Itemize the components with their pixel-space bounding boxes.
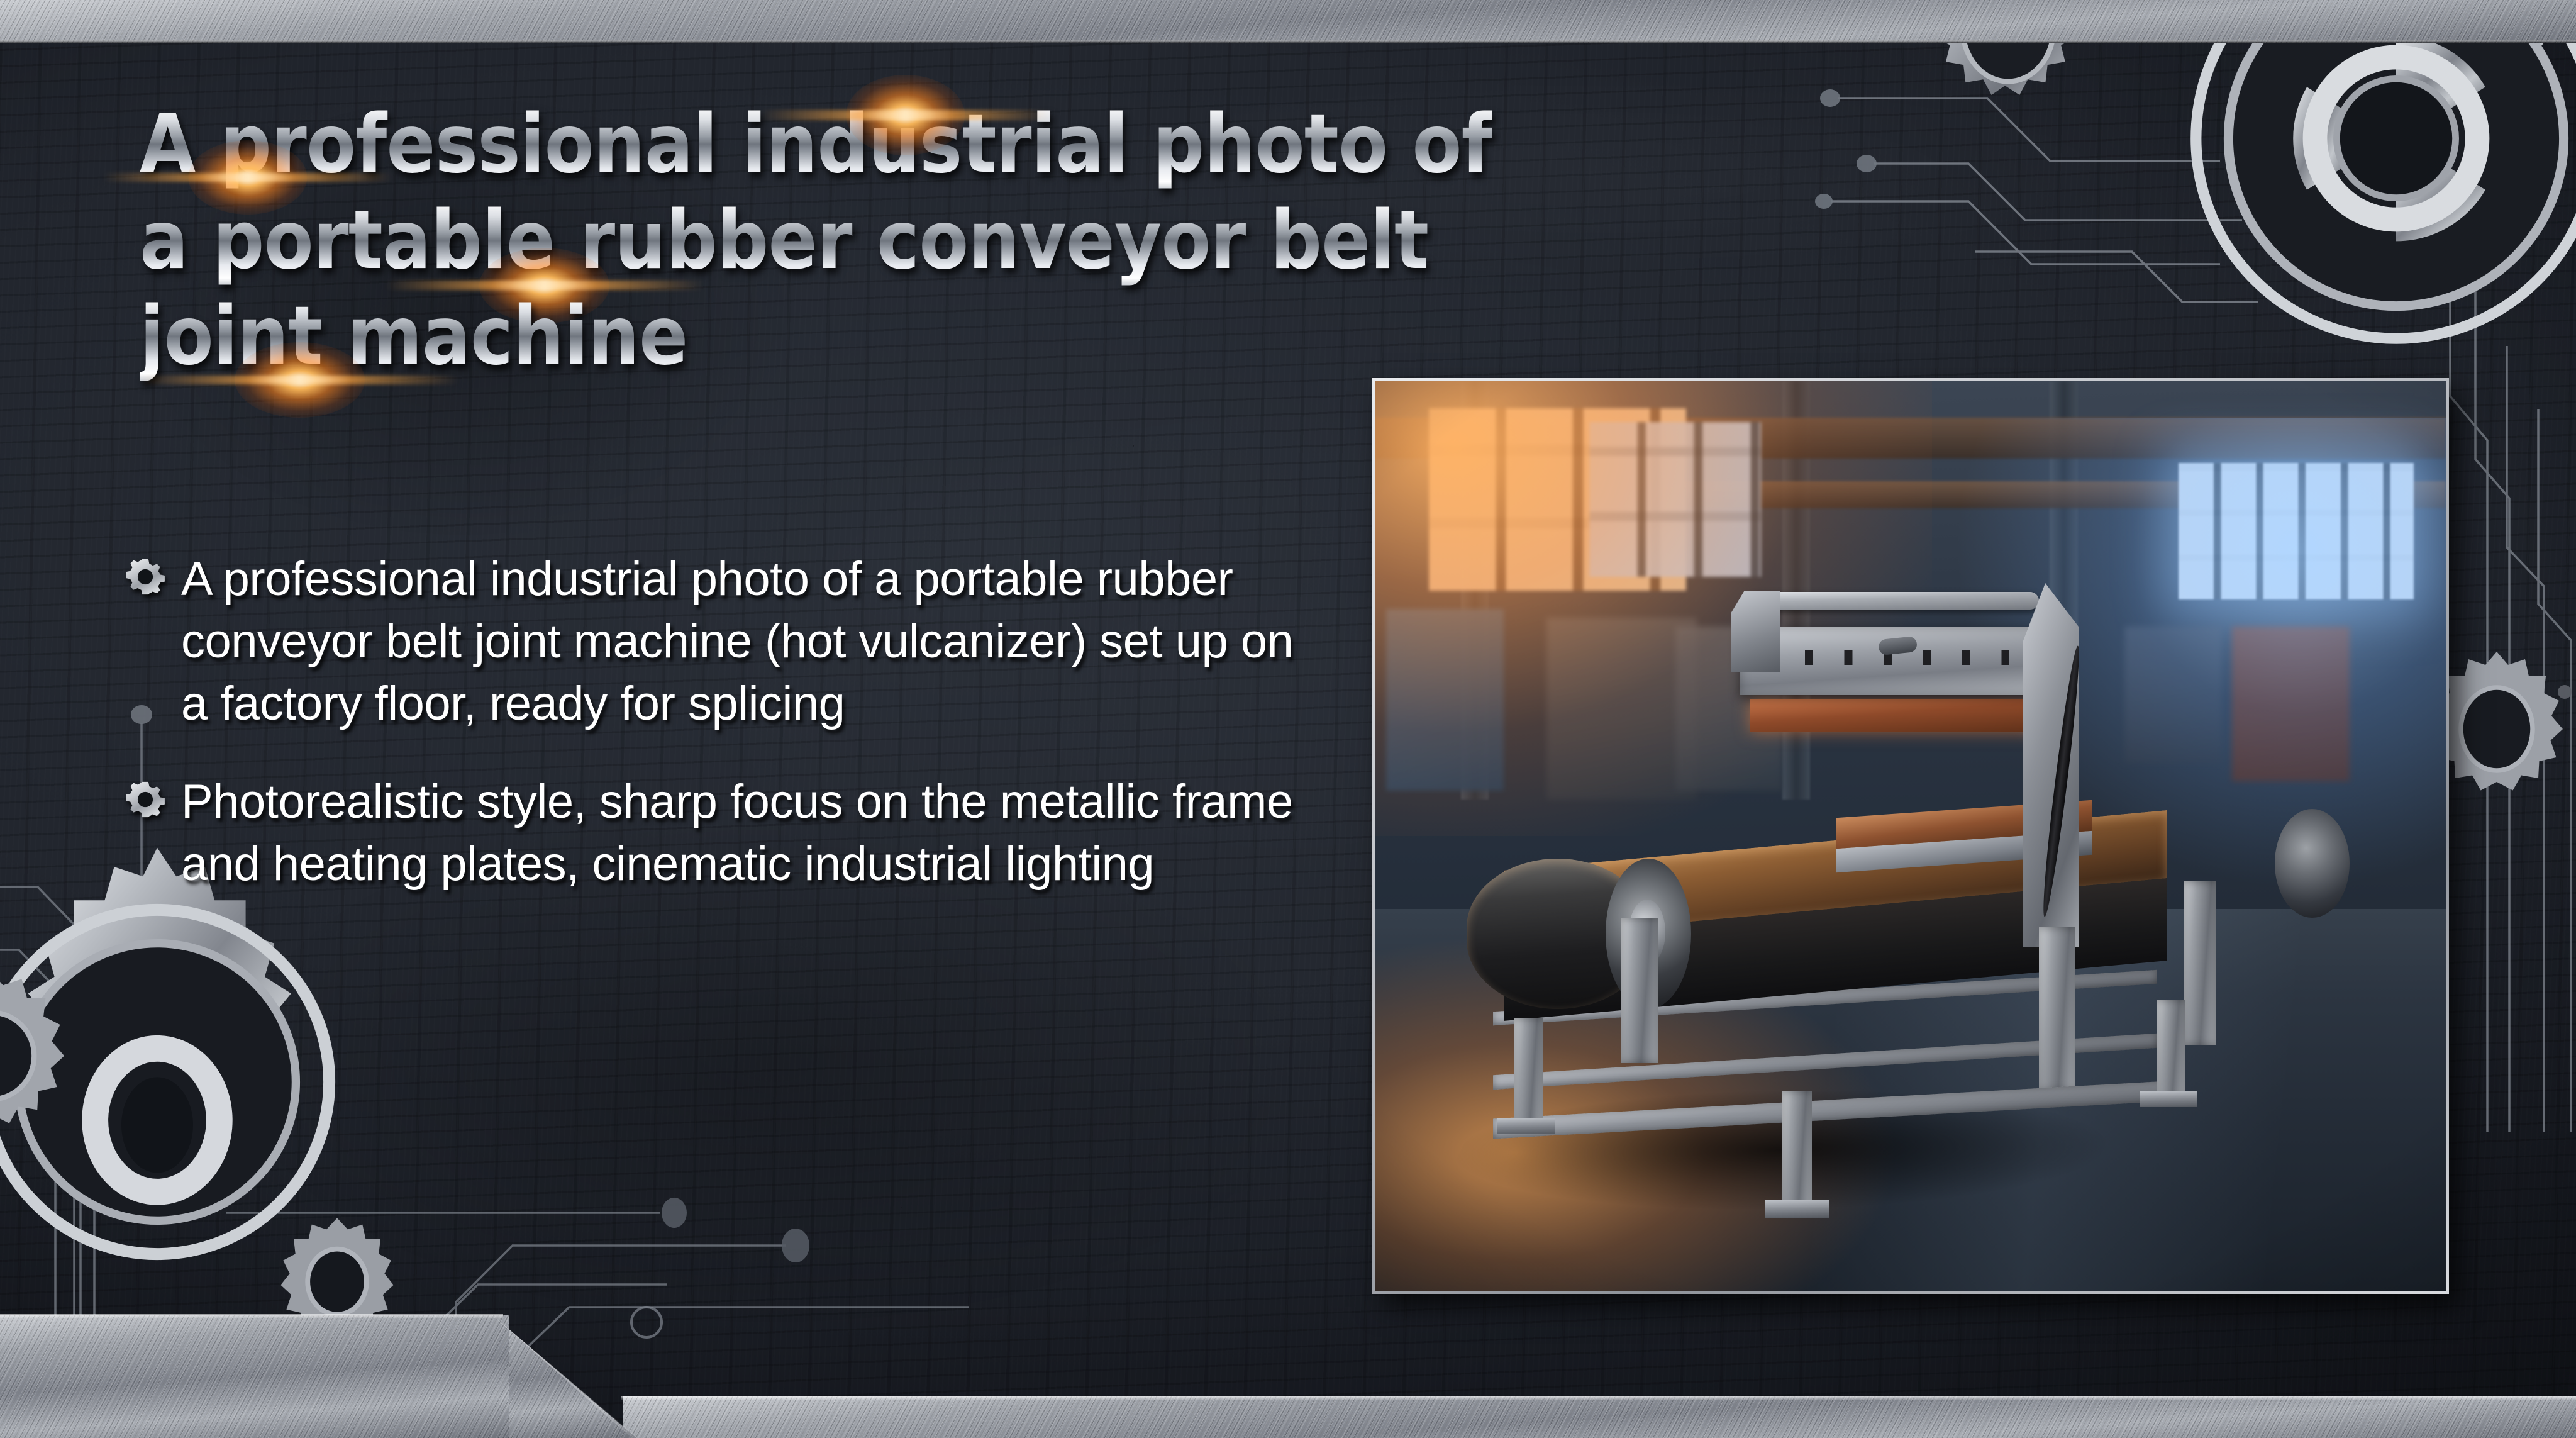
- page-title: A professional industrial photo of a por…: [140, 104, 1272, 392]
- bottom-bar-highlight: [621, 1396, 2576, 1400]
- list-item-label: Photorealistic style, sharp focus on the…: [181, 771, 1302, 896]
- top-metal-bar: [0, 0, 2576, 43]
- gear-medium-bottom-left: [0, 962, 94, 1170]
- bottom-bar-tall: [0, 1315, 509, 1438]
- list-item-label: A professional industrial photo of a por…: [181, 549, 1302, 735]
- gear-icon: [126, 557, 165, 596]
- list-item: A professional industrial photo of a por…: [126, 549, 1302, 735]
- bottom-metal-bar: [0, 1281, 2576, 1438]
- image-vignette: [1375, 381, 2446, 1291]
- gear-large-top-right: [2126, 0, 2576, 409]
- content-image: [1372, 378, 2449, 1294]
- list-item: Photorealistic style, sharp focus on the…: [126, 771, 1302, 896]
- title-line-1: A professional industrial photo of: [140, 104, 1272, 186]
- gear-icon: [126, 780, 165, 819]
- title-line-3: joint machine: [140, 296, 1272, 378]
- bottom-bar-thin: [623, 1396, 2576, 1438]
- slide-canvas: A professional industrial photo of a por…: [0, 0, 2576, 1438]
- bottom-bar-highlight: [0, 1314, 503, 1318]
- bullet-list: A professional industrial photo of a por…: [126, 549, 1302, 932]
- title-line-2: a portable rubber conveyor belt: [140, 200, 1272, 282]
